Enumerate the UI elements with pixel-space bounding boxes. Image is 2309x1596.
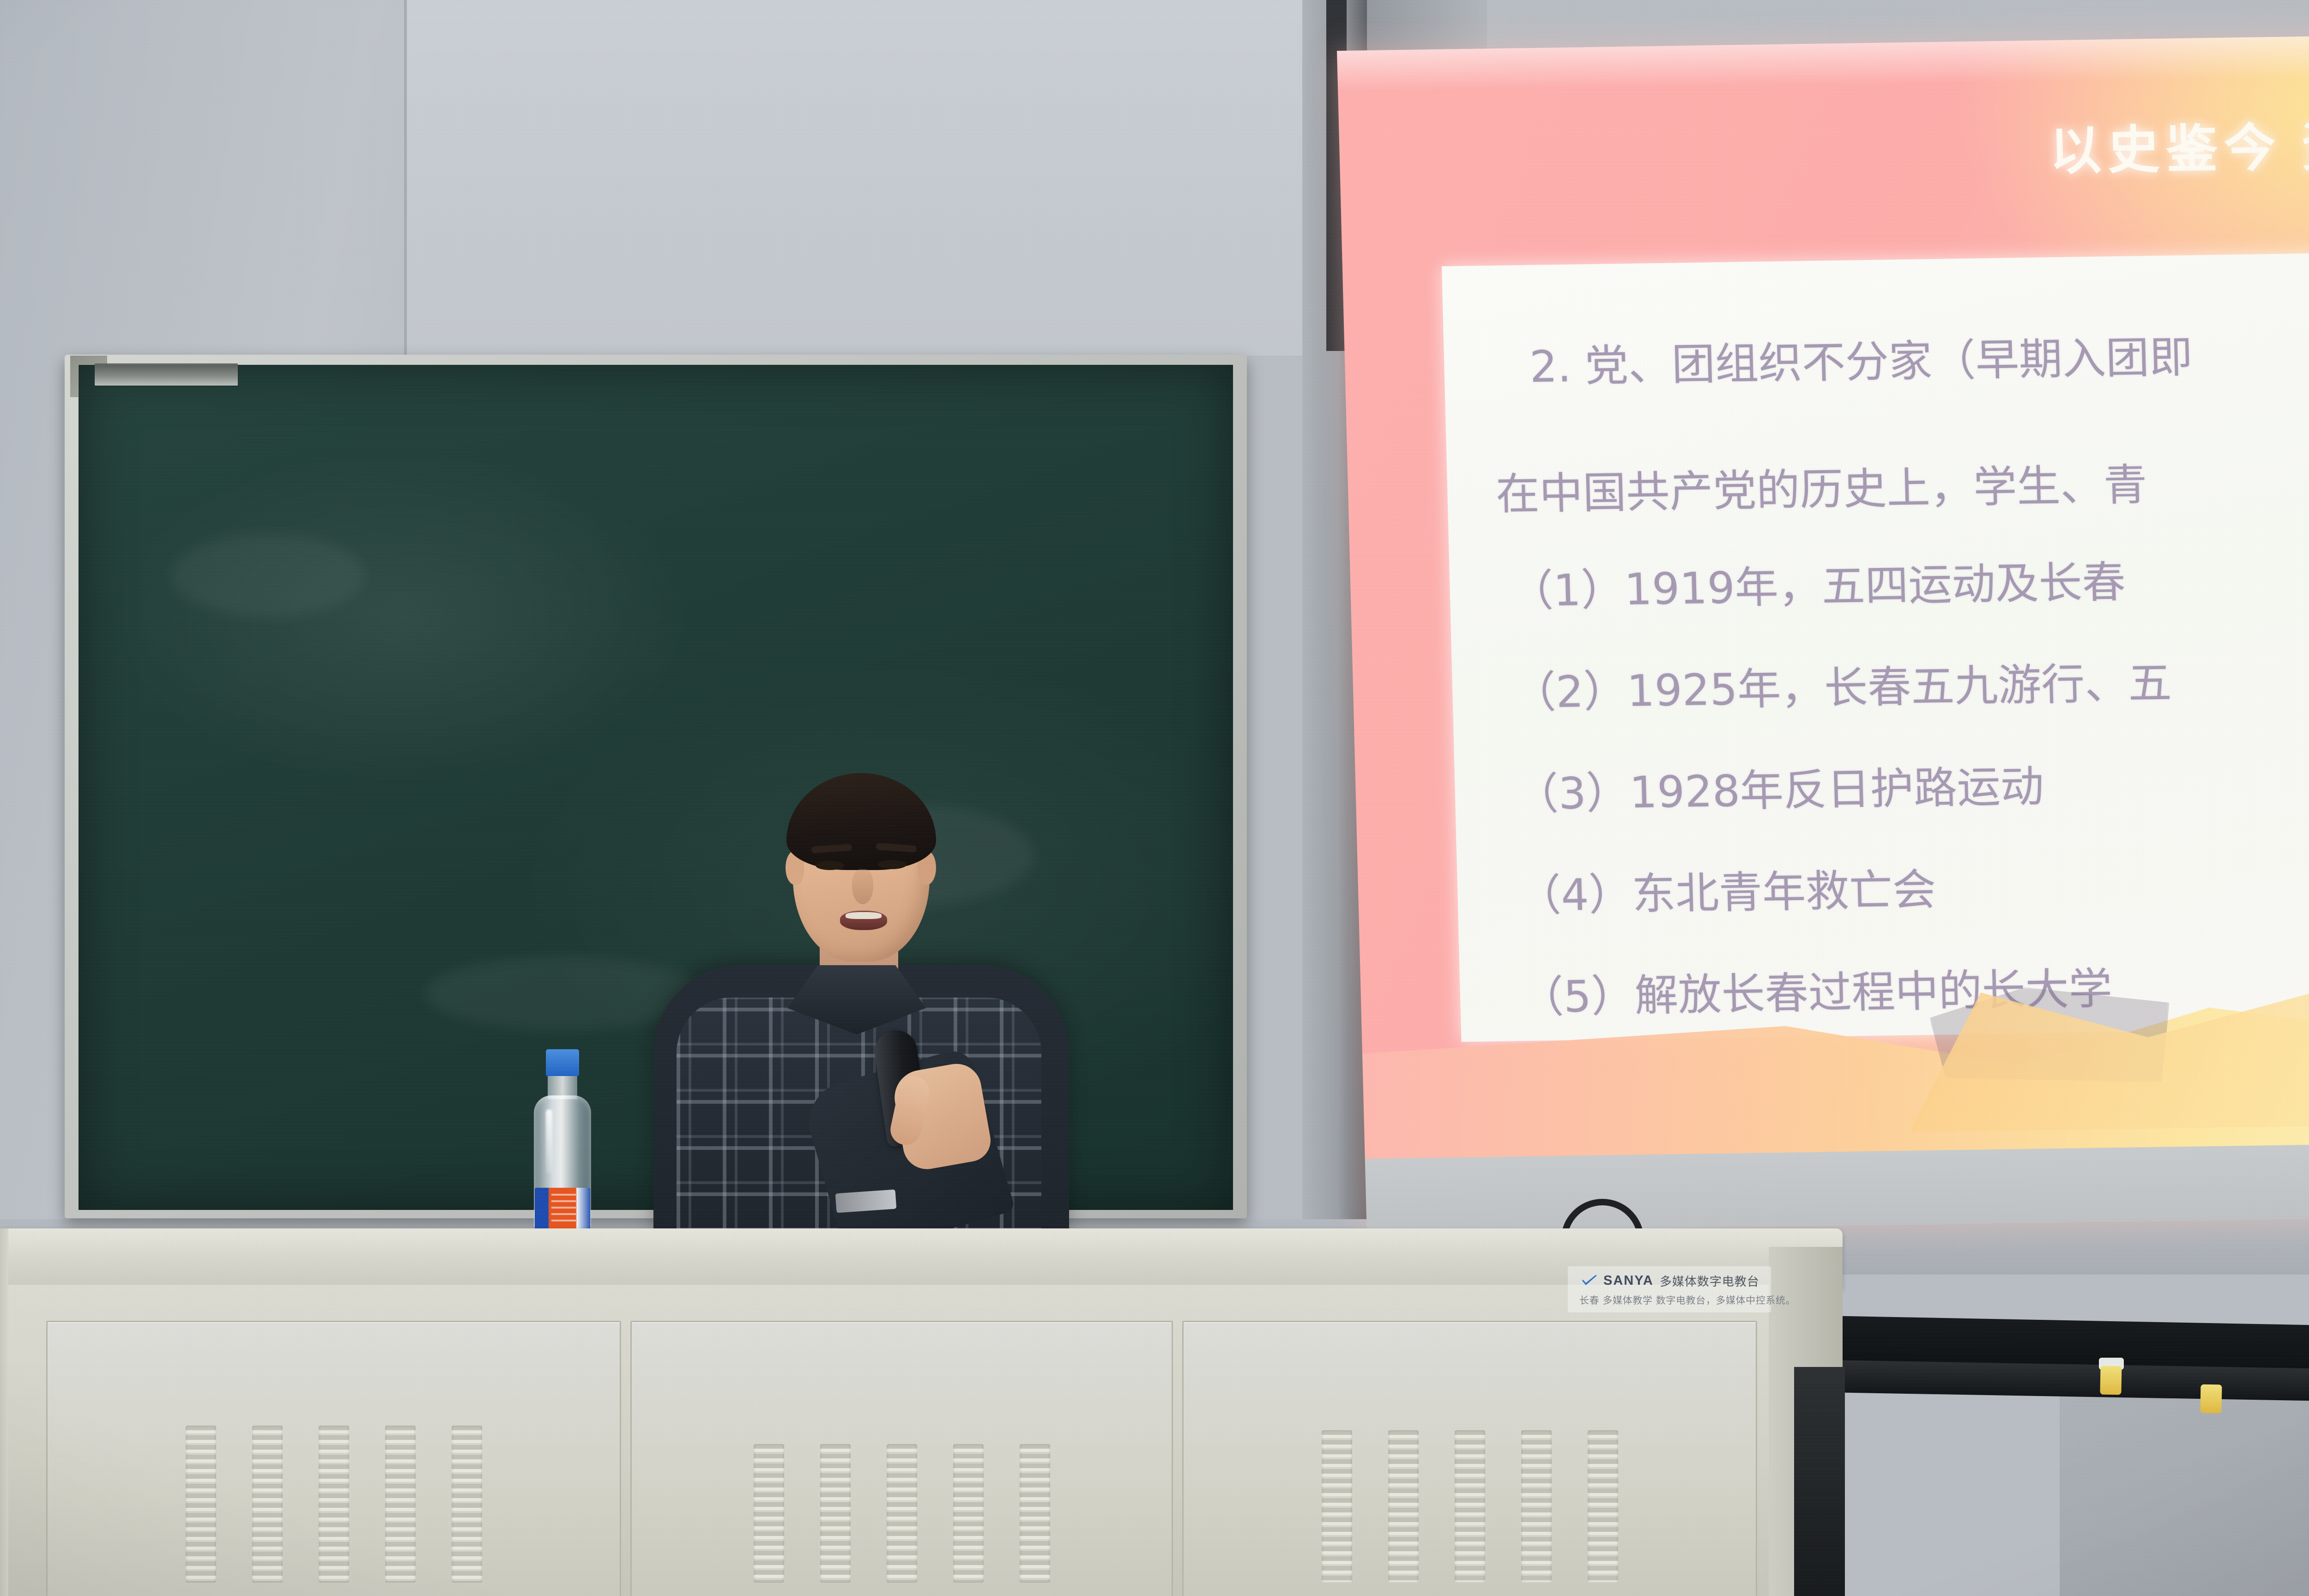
wall-panel-edge xyxy=(404,0,407,356)
speaker-hair xyxy=(786,773,936,870)
podium-door-center[interactable] xyxy=(630,1321,1173,1596)
blackboard-maker-label xyxy=(95,363,238,386)
podium-vent-group xyxy=(754,1444,1050,1583)
projected-slide: 以史鉴今 资政 2. 党、团组织不分家（早期入团即 在中国共产党的历史上，学生、… xyxy=(1337,35,2309,1233)
bottle-label xyxy=(535,1188,590,1230)
slide-bottom-band xyxy=(1365,1143,2309,1233)
slide-content-panel: 2. 党、团组织不分家（早期入团即 在中国共产党的历史上，学生、青 （1）191… xyxy=(1442,251,2309,1042)
vent-slot xyxy=(887,1444,917,1583)
podium-left-edge xyxy=(0,1228,8,1596)
bottle-highlight xyxy=(546,1109,552,1174)
bottle-neck xyxy=(548,1074,577,1099)
vent-slot xyxy=(319,1426,349,1583)
chalk-piece-yellow[interactable] xyxy=(2200,1384,2222,1414)
vent-slot xyxy=(754,1444,784,1583)
speaker-eye-right xyxy=(878,860,907,869)
vent-slot xyxy=(1388,1430,1419,1583)
chalk-smudge xyxy=(171,534,365,617)
speaker-mouth xyxy=(840,911,887,930)
slide-title: 以史鉴今 资政 xyxy=(2049,104,2309,184)
wall-upper-panel xyxy=(404,0,1305,356)
vent-slot xyxy=(953,1444,984,1583)
chalk-piece-yellow[interactable] xyxy=(2100,1366,2122,1395)
vent-slot xyxy=(186,1426,216,1583)
vent-slot xyxy=(252,1426,283,1583)
vent-slot xyxy=(820,1444,851,1583)
podium-worktop xyxy=(0,1228,1843,1288)
photo-scene: 以史鉴今 资政 2. 党、团组织不分家（早期入团即 在中国共产党的历史上，学生、… xyxy=(0,0,2309,1596)
slide-heading: 2. 党、团组织不分家（早期入团即 xyxy=(1529,336,2193,389)
podium-door-right[interactable] xyxy=(1182,1321,1757,1596)
vent-slot xyxy=(1020,1444,1050,1583)
podium-brand-subline: 长春 多媒体教学 数字电教台，多媒体中控系统。 xyxy=(1579,1293,1795,1307)
sanya-logo-icon xyxy=(1582,1275,1597,1287)
vent-slot xyxy=(1322,1430,1352,1583)
podium-vent-group xyxy=(1322,1430,1618,1583)
podium-vent-group xyxy=(186,1426,482,1583)
podium-brand-name-cn: 多媒体数字电教台 xyxy=(1660,1272,1759,1289)
water-bottle[interactable] xyxy=(532,1049,593,1229)
speaker xyxy=(621,748,1101,1238)
vent-slot xyxy=(385,1426,416,1583)
speaker-nose xyxy=(852,869,873,904)
slide-list-item-2: （2）1925年，长春五九游行、五 xyxy=(1512,662,2172,715)
slide-intro-text: 在中国共产党的历史上，学生、青 xyxy=(1495,464,2147,517)
speaker-eye-left xyxy=(816,861,844,870)
podium-brand-row: SANYA 多媒体数字电教台 xyxy=(1582,1272,1759,1289)
slide-list-item-4: （4）东北青年救亡会 xyxy=(1517,869,1936,918)
vent-slot xyxy=(452,1426,482,1583)
slide-list-item-1: （1）1919年，五四运动及长春 xyxy=(1510,561,2126,614)
vent-slot xyxy=(1588,1430,1618,1583)
podium-door-left[interactable] xyxy=(46,1321,621,1596)
vent-slot xyxy=(1521,1430,1552,1583)
vent-slot xyxy=(1455,1430,1485,1583)
bottle-cap[interactable] xyxy=(546,1049,579,1076)
slide-list-item-3: （3）1928年反日护路运动 xyxy=(1515,765,2044,816)
podium-right-shadow-gap xyxy=(1794,1367,1845,1596)
podium-brand-name: SANYA xyxy=(1603,1273,1654,1288)
